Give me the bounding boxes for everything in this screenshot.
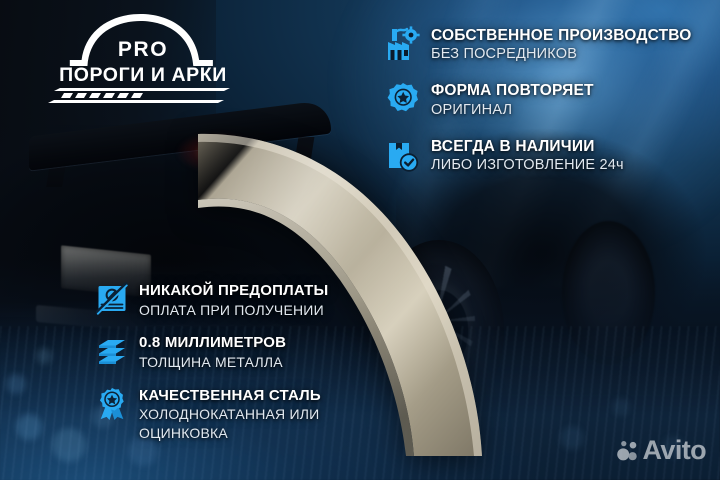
brand-logo: PRO ПОРОГИ И АРКИ (38, 8, 248, 108)
feature-text: ФОРМА ПОВТОРЯЕТ ОРИГИНАЛ (431, 81, 594, 118)
feature-item-always-in-stock: ВСЕГДА В НАЛИЧИИ ЛИБО ИЗГОТОВЛЕНИЕ 24ч (386, 137, 716, 174)
feature-subtitle: ЛИБО ИЗГОТОВЛЕНИЕ 24ч (431, 157, 624, 174)
feature-list-left: НИКАКОЙ ПРЕДОПЛАТЫ ОПЛАТА ПРИ ПОЛУЧЕНИИ … (96, 282, 396, 457)
no-cash-icon (96, 282, 128, 316)
feature-text: ВСЕГДА В НАЛИЧИИ ЛИБО ИЗГОТОВЛЕНИЕ 24ч (431, 137, 624, 174)
badge-star-icon (386, 81, 420, 117)
feature-title: 0.8 МИЛЛИМЕТРОВ (139, 335, 286, 352)
racing-stripe-icon (48, 88, 230, 103)
feature-text: 0.8 МИЛЛИМЕТРОВ ТОЛЩИНА МЕТАЛЛА (139, 334, 286, 370)
feature-title: НИКАКОЙ ПРЕДОПЛАТЫ (139, 283, 328, 300)
feature-item-metal-thickness: 0.8 МИЛЛИМЕТРОВ ТОЛЩИНА МЕТАЛЛА (96, 334, 396, 370)
feature-subtitle: ОПЛАТА ПРИ ПОЛУЧЕНИИ (139, 302, 328, 319)
feature-title: СОБСТВЕННОЕ ПРОИЗВОДСТВО (431, 27, 692, 44)
feature-item-own-production: СОБСТВЕННОЕ ПРОИЗВОДСТВО БЕЗ ПОСРЕДНИКОВ (386, 26, 716, 63)
feature-subtitle: ТОЛЩИНА МЕТАЛЛА (139, 354, 286, 371)
avito-wordmark: Avito (643, 437, 707, 464)
feature-subtitle-line1: ХОЛОДНОКАТАННАЯ ИЛИ (139, 406, 321, 423)
feature-title: ВСЕГДА В НАЛИЧИИ (431, 138, 624, 155)
feature-item-quality-steel: КАЧЕСТВЕННАЯ СТАЛЬ ХОЛОДНОКАТАННАЯ ИЛИ О… (96, 387, 396, 442)
feature-subtitle-line2: ОЦИНКОВКА (139, 425, 321, 442)
avito-watermark: Avito (616, 437, 707, 464)
feature-text: КАЧЕСТВЕННАЯ СТАЛЬ ХОЛОДНОКАТАННАЯ ИЛИ О… (139, 387, 321, 442)
feature-list-right: СОБСТВЕННОЕ ПРОИЗВОДСТВО БЕЗ ПОСРЕДНИКОВ… (386, 26, 716, 192)
feature-subtitle: БЕЗ ПОСРЕДНИКОВ (431, 46, 692, 63)
promo-banner: PRO ПОРОГИ И АРКИ (0, 0, 720, 480)
award-medal-icon (96, 387, 128, 421)
box-check-icon (386, 137, 420, 173)
feature-subtitle: ОРИГИНАЛ (431, 102, 594, 119)
logo-name-text: ПОРОГИ И АРКИ (59, 64, 227, 86)
feature-title: КАЧЕСТВЕННАЯ СТАЛЬ (139, 388, 321, 405)
metal-layers-icon (96, 334, 128, 368)
feature-item-no-prepayment: НИКАКОЙ ПРЕДОПЛАТЫ ОПЛАТА ПРИ ПОЛУЧЕНИИ (96, 282, 396, 318)
feature-item-shape-matches-original: ФОРМА ПОВТОРЯЕТ ОРИГИНАЛ (386, 81, 716, 118)
feature-text: НИКАКОЙ ПРЕДОПЛАТЫ ОПЛАТА ПРИ ПОЛУЧЕНИИ (139, 282, 328, 318)
factory-gear-icon (386, 26, 420, 62)
feature-title: ФОРМА ПОВТОРЯЕТ (431, 82, 594, 99)
avito-dots-icon (616, 439, 640, 463)
logo-pro-text: PRO (118, 38, 168, 61)
feature-text: СОБСТВЕННОЕ ПРОИЗВОДСТВО БЕЗ ПОСРЕДНИКОВ (431, 26, 692, 63)
